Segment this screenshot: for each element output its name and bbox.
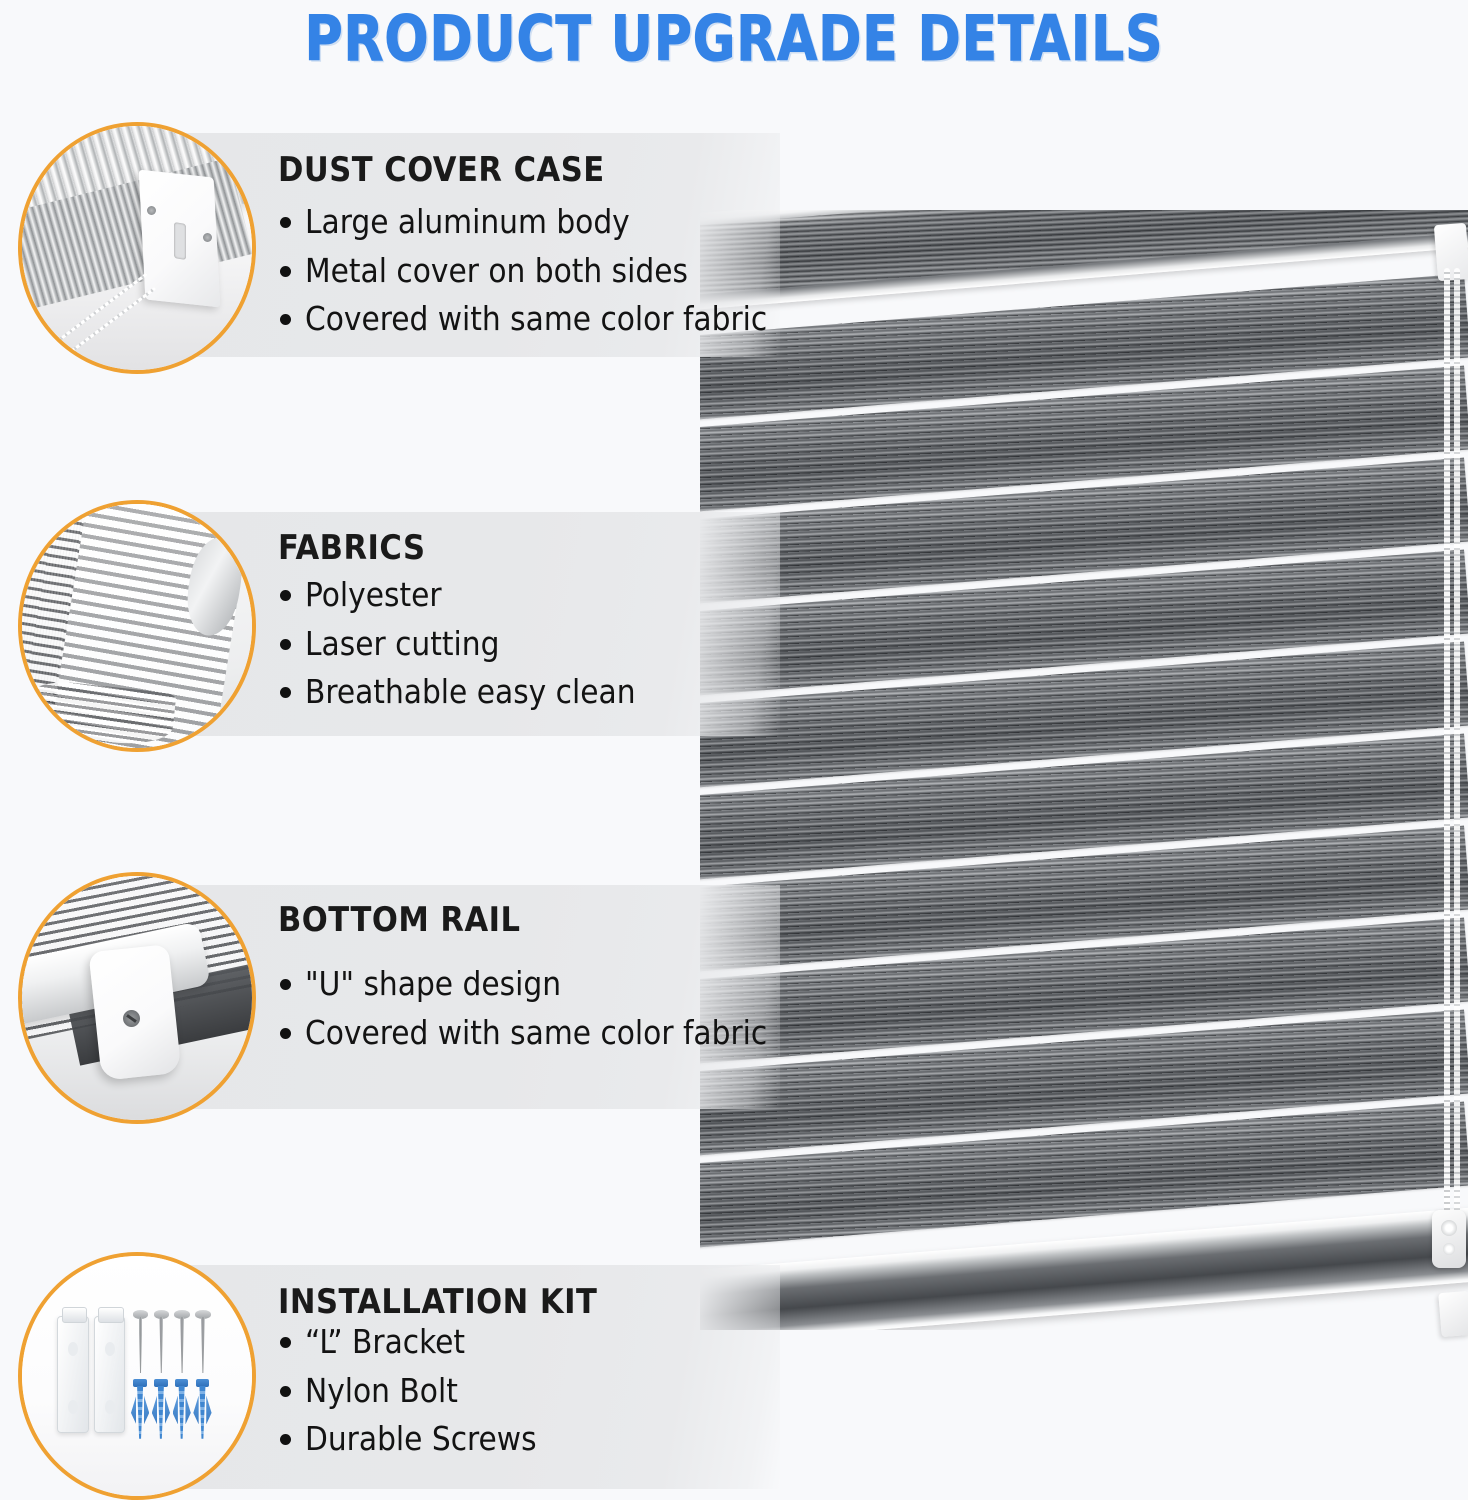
screw-icon (179, 1310, 186, 1373)
bullet-dot-icon (280, 1386, 291, 1397)
bullet-dot-icon (280, 217, 291, 228)
bullet-item: Large aluminum body (280, 205, 767, 240)
bullet-item: Metal cover on both sides (280, 254, 767, 289)
bullet-text: "U" shape design (305, 967, 561, 1002)
bullet-text: Nylon Bolt (305, 1374, 458, 1409)
bullet-dot-icon (280, 590, 291, 601)
installation-kit-image (20, 1254, 254, 1498)
bullet-text: Large aluminum body (305, 205, 630, 240)
screw-icon (137, 1310, 144, 1373)
bullet-text: Laser cutting (305, 627, 499, 662)
screw-shaft (201, 1317, 205, 1373)
bottom-rail-image (20, 874, 254, 1122)
anchor-body (157, 1386, 165, 1439)
bullet-item: Covered with same color fabric (280, 1016, 767, 1051)
kit-parts-group (57, 1308, 230, 1445)
bullets-dust-cover-case: Large aluminum body Metal cover on both … (280, 205, 767, 351)
screw-icon (158, 1310, 165, 1373)
bullets-fabrics: Polyester Laser cutting Breathable easy … (280, 578, 636, 724)
nylon-bolt-icon (135, 1379, 145, 1439)
bullet-item: "U" shape design (280, 967, 767, 1002)
bullet-dot-icon (280, 314, 291, 325)
headrail-end-cap (1434, 223, 1468, 281)
chain-slot (174, 222, 186, 260)
zebra-roller-blind-photo (700, 210, 1468, 1330)
blind-stage (700, 210, 1468, 1330)
bullet-dot-icon (280, 1337, 291, 1348)
dust-cover-case-image (20, 124, 254, 372)
nylon-bolt-icon (198, 1379, 208, 1439)
heading-bottom-rail: BOTTOM RAIL (278, 900, 521, 940)
bullet-text: Durable Screws (305, 1422, 537, 1457)
bullet-text: Covered with same color fabric (305, 1016, 767, 1051)
bullet-item: Covered with same color fabric (280, 302, 767, 337)
nylon-bolt-icon (156, 1379, 166, 1439)
dust-cover-case-photo (18, 122, 256, 374)
bead-chain-loop[interactable] (1454, 268, 1460, 1258)
bullet-text: Metal cover on both sides (305, 254, 688, 289)
bullets-installation-kit: “L” Bracket Nylon Bolt Durable Screws (280, 1325, 537, 1471)
bullet-item: Nylon Bolt (280, 1374, 537, 1409)
bullet-dot-icon (280, 979, 291, 990)
installation-kit-photo (18, 1252, 256, 1500)
bullet-text: “L” Bracket (305, 1325, 465, 1360)
bullet-item: “L” Bracket (280, 1325, 537, 1360)
screw-shaft (180, 1317, 184, 1373)
anchor-collar (133, 1379, 146, 1387)
anchor-collar (175, 1379, 188, 1387)
nylon-bolt-icon (177, 1379, 187, 1439)
anchor-collar (196, 1379, 209, 1387)
bullet-item: Durable Screws (280, 1422, 537, 1457)
anchor-body (136, 1386, 144, 1439)
screw-shaft (139, 1317, 143, 1373)
bullet-text: Breathable easy clean (305, 675, 636, 710)
anchor-wing (152, 1396, 157, 1425)
screw-icon (199, 1310, 206, 1373)
anchor-wing (185, 1396, 190, 1425)
bottom-rail-end-cap (1438, 1291, 1468, 1337)
anchor-body (178, 1386, 186, 1439)
bullet-item: Laser cutting (280, 627, 636, 662)
bullet-item: Breathable easy clean (280, 675, 636, 710)
bullet-dot-icon (280, 1028, 291, 1039)
chain-tensioner[interactable] (1432, 1210, 1466, 1268)
bullet-text: Covered with same color fabric (305, 302, 767, 337)
screw-shaft (159, 1317, 163, 1373)
anchor-wing (193, 1396, 198, 1425)
page-title: PRODUCT UPGRADE DETAILS (51, 2, 1416, 75)
anchor-body (198, 1386, 206, 1439)
anchor-collar (154, 1379, 167, 1387)
l-bracket-icon (57, 1316, 88, 1433)
fabric-roll-image (20, 502, 254, 750)
screw-icon (147, 206, 156, 215)
heading-fabrics: FABRICS (278, 528, 426, 568)
bullet-dot-icon (280, 687, 291, 698)
bullet-dot-icon (280, 266, 291, 277)
anchor-wing (206, 1396, 211, 1425)
bullet-text: Polyester (305, 578, 442, 613)
screw-icon (203, 233, 212, 242)
anchor-wing (144, 1396, 149, 1425)
bottom-rail-photo (18, 872, 256, 1124)
fabric-roll-photo (18, 500, 256, 752)
bullet-dot-icon (280, 639, 291, 650)
anchor-wing (173, 1396, 178, 1425)
bullets-bottom-rail: "U" shape design Covered with same color… (280, 967, 767, 1064)
anchor-wing (131, 1396, 136, 1425)
bullet-dot-icon (280, 1434, 291, 1445)
bead-chain[interactable] (1444, 268, 1450, 1258)
heading-installation-kit: INSTALLATION KIT (278, 1282, 597, 1322)
bullet-item: Polyester (280, 578, 636, 613)
heading-dust-cover-case: DUST COVER CASE (278, 150, 605, 190)
l-bracket-icon (94, 1316, 125, 1433)
anchor-wing (165, 1396, 170, 1425)
